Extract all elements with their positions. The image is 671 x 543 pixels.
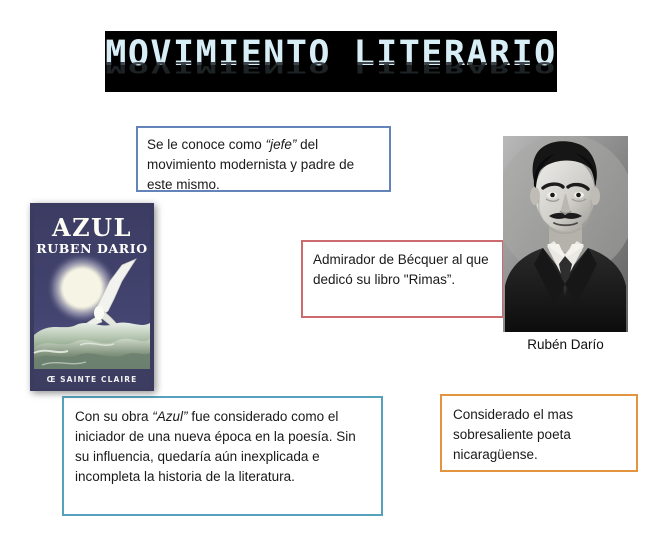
callout-text-azul: Con su obra “Azul” fue considerado como … [75,407,370,487]
book-cover-image-azul: AZUL RUBEN DARIO Œ SAINTE CLAIRE [30,203,154,391]
callout-box-azul: Con su obra “Azul” fue considerado como … [62,396,383,516]
callout-text-jefe: Se le conoce como “jefe” del movimiento … [147,135,380,195]
portrait-photo-ruben-dario [503,136,628,332]
slide-title-banner: MOVIMIENTO LITERARIO MOVIMIENTO LITERARI… [105,31,557,92]
slide-title-reflection: MOVIMIENTO LITERARIO [105,58,557,76]
svg-text:AZUL: AZUL [51,213,132,242]
callout-text-nicaraguense: Considerado el mas sobresaliente poeta n… [453,405,625,465]
callout-box-becquer: Admirador de Bécquer al que dedicó su li… [301,240,504,318]
portrait-caption: Rubén Darío [498,337,633,352]
callout-text-becquer: Admirador de Bécquer al que dedicó su li… [313,250,492,290]
svg-text:Œ SAINTE CLAIRE: Œ SAINTE CLAIRE [47,375,138,384]
callout-box-nicaraguense: Considerado el mas sobresaliente poeta n… [440,394,638,472]
callout-box-jefe: Se le conoce como “jefe” del movimiento … [136,126,391,192]
